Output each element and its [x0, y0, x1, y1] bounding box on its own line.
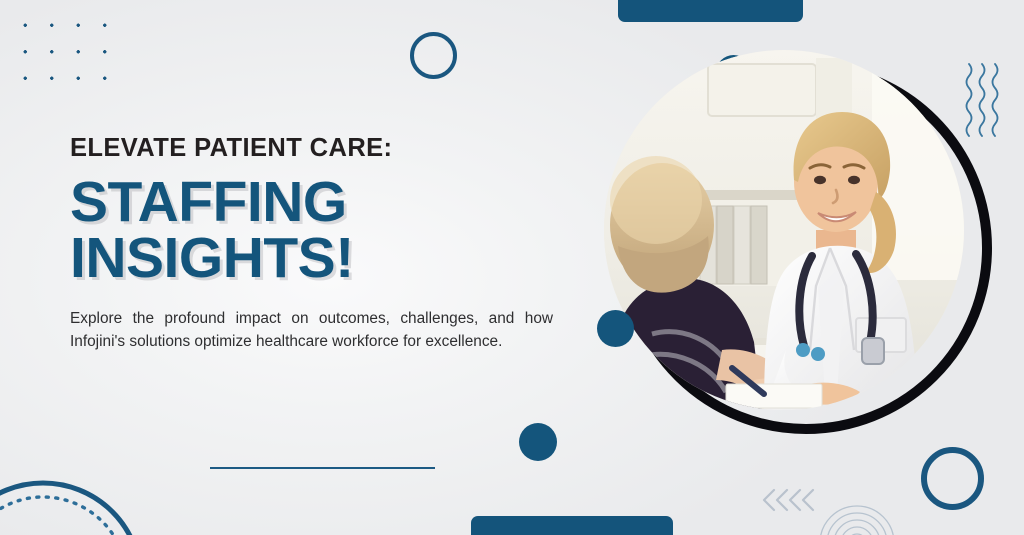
- copy-block: ELEVATE PATIENT CARE: STAFFING INSIGHTS!…: [70, 134, 560, 353]
- hero-photo: [604, 50, 964, 410]
- concentric-arcs-decoration: [818, 495, 896, 535]
- banner-canvas: ELEVATE PATIENT CARE: STAFFING INSIGHTS!…: [0, 0, 1024, 535]
- dot-mid-decoration: [597, 310, 634, 347]
- dot-grid-decoration: [8, 8, 128, 88]
- ring-outline-small-decoration: [410, 32, 457, 79]
- hero-photo-group: [600, 50, 1000, 470]
- corner-dotted-circle-decoration: [0, 476, 148, 535]
- body-paragraph: Explore the profound impact on outcomes,…: [70, 308, 553, 353]
- eyebrow-text: ELEVATE PATIENT CARE:: [70, 134, 560, 162]
- headline-line-2: INSIGHTS!: [70, 230, 560, 286]
- ring-outline-large-decoration: [921, 447, 984, 510]
- underline-rule-decoration: [210, 467, 435, 469]
- chevrons-decoration: [760, 487, 818, 513]
- headline-line-1: STAFFING: [70, 174, 560, 230]
- dot-low-decoration: [519, 423, 557, 461]
- bar-top-decoration: [618, 0, 803, 22]
- page-title: STAFFING INSIGHTS!: [70, 174, 560, 287]
- bar-bottom-decoration: [471, 516, 673, 535]
